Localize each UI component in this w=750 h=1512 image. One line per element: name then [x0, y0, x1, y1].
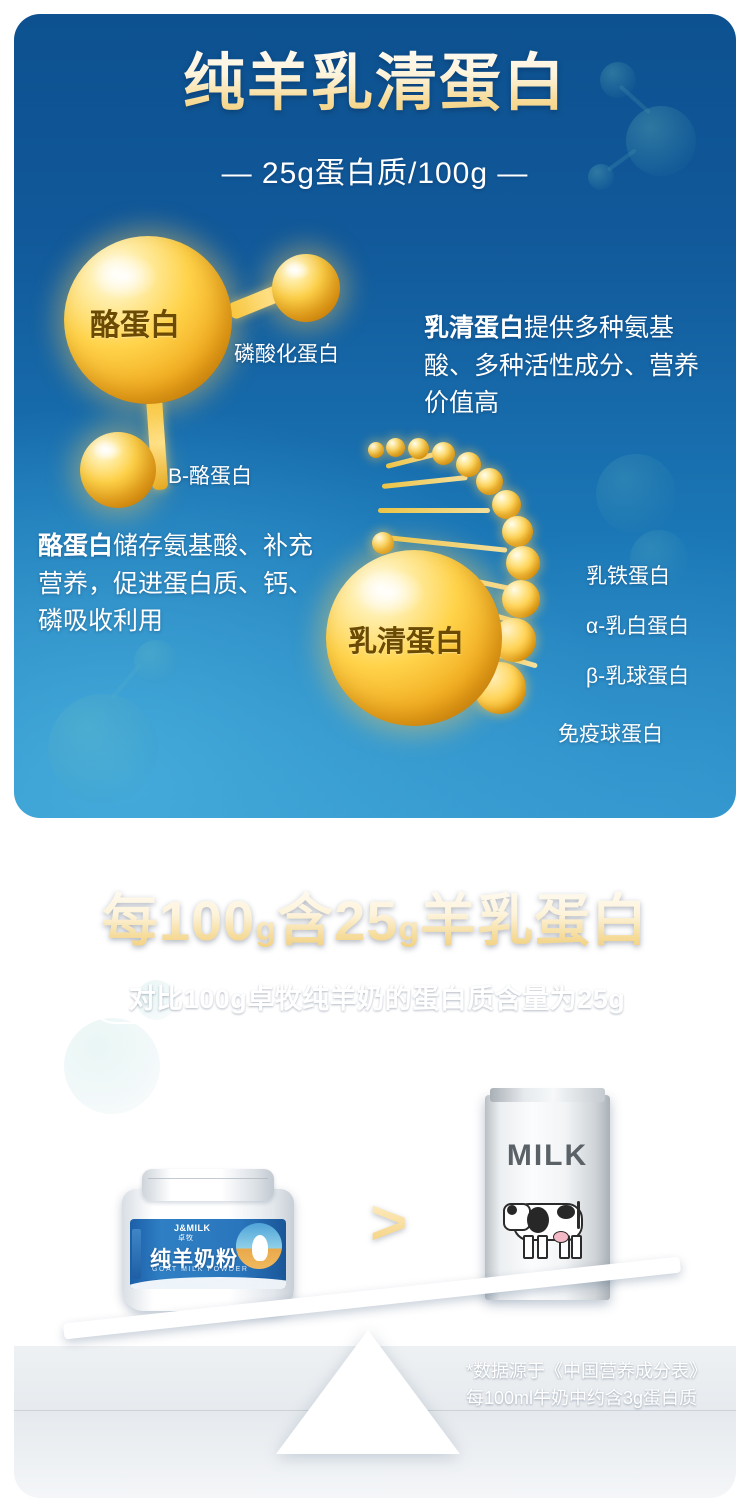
background-molecule-decoration-left — [38, 634, 208, 804]
helix-bead — [506, 546, 540, 580]
paragraph-casein-bold: 酪蛋白 — [38, 532, 113, 560]
helix-bead — [432, 442, 455, 465]
can-label: J&MILK 卓牧 纯羊奶粉 GOAT MILK POWDER 生羊乳 小分子·… — [130, 1219, 286, 1289]
can-lid — [142, 1169, 274, 1201]
page-title: 纯羊乳清蛋白 — [0, 50, 750, 118]
helix-bead — [372, 532, 394, 554]
label-immunoglobulin: 免疫球蛋白 — [558, 718, 663, 748]
cow-spot — [527, 1207, 549, 1233]
title-number-25: 25 — [334, 889, 398, 952]
helix-rung — [376, 534, 508, 553]
product-marketing-page: 纯羊乳清蛋白 — 25g蛋白质/100g — 酪蛋白 磷酸化蛋白 B-酪蛋白 乳… — [0, 0, 750, 1512]
greater-than-icon: > — [370, 1190, 407, 1254]
label-lactoferrin: 乳铁蛋白 — [586, 560, 670, 590]
label-phosphorylated-protein: 磷酸化蛋白 — [234, 338, 339, 368]
whey-sphere-label: 乳清蛋白 — [348, 618, 464, 660]
can-net-weight: 净含量:400克 — [246, 1277, 282, 1286]
goat-illustration-icon — [236, 1223, 282, 1269]
page-subtitle: — 25g蛋白质/100g — — [0, 148, 750, 192]
title-suffix: 羊乳蛋白 — [420, 889, 648, 952]
can-brand-cn: 卓牧 — [178, 1233, 194, 1243]
title-prefix: 每 — [102, 889, 159, 952]
phospho-sphere — [272, 254, 340, 322]
title-middle: 含 — [277, 889, 334, 952]
helix-bead — [502, 516, 533, 547]
title-unit-g1: g — [255, 910, 277, 948]
beta-casein-sphere — [80, 432, 156, 508]
helix-bead — [368, 442, 384, 458]
casein-sphere-label: 酪蛋白 — [90, 300, 180, 344]
title-number-100: 100 — [159, 889, 255, 952]
helix-bead — [408, 438, 429, 459]
comparison-subtitle-pill: 对比100g卓牧纯羊奶的蛋白质含量为25g — [88, 968, 666, 1024]
can-label-side-strip — [132, 1229, 141, 1279]
cow-leg — [537, 1235, 548, 1259]
footnote-line-1: *数据源于《中国营养成分表》 — [466, 1358, 707, 1385]
cow-illustration — [503, 1187, 595, 1257]
footnote-line-2: 每100ml牛奶中约含3g蛋白质 — [466, 1385, 707, 1412]
carton-label-text: MILK — [485, 1139, 610, 1173]
cow-spot — [557, 1205, 575, 1219]
balance-fulcrum — [276, 1330, 460, 1454]
can-brand: J&MILK — [174, 1223, 211, 1233]
label-beta-casein: B-酪蛋白 — [168, 460, 252, 490]
cow-udder — [553, 1231, 569, 1243]
can-product-name-en: GOAT MILK POWDER — [152, 1266, 249, 1273]
can-bullets: 生羊乳 小分子·易吸收 900m纯质生态乳 — [144, 1279, 235, 1286]
cow-leg — [523, 1235, 534, 1259]
whey-main-sphere: 乳清蛋白 — [326, 550, 502, 726]
goat-milk-powder-can: J&MILK 卓牧 纯羊奶粉 GOAT MILK POWDER 生羊乳 小分子·… — [112, 1163, 304, 1315]
helix-rung — [382, 475, 468, 489]
paragraph-casein: 酪蛋白储存氨基酸、补充营养，促进蛋白质、钙、磷吸收利用 — [38, 528, 320, 641]
label-alpha-lactalbumin: α-乳白蛋白 — [586, 610, 689, 640]
helix-bead — [492, 490, 521, 519]
cow-leg — [571, 1235, 582, 1259]
paragraph-whey-protein: 乳清蛋白提供多种氨基酸、多种活性成分、营养价值高 — [424, 310, 714, 423]
cow-tail — [577, 1201, 580, 1229]
cow-spot — [507, 1205, 517, 1215]
footnote: *数据源于《中国营养成分表》 每100ml牛奶中约含3g蛋白质 — [466, 1358, 707, 1412]
casein-main-sphere: 酪蛋白 — [64, 236, 232, 404]
comparison-title: 每100g含25g羊乳蛋白 — [0, 890, 750, 952]
paragraph-whey-bold: 乳清蛋白 — [424, 314, 524, 342]
label-beta-lactoglobulin: β-乳球蛋白 — [586, 660, 689, 690]
whey-protein-molecule-illustration: 乳清蛋白 — [316, 430, 646, 750]
helix-rung — [378, 508, 490, 513]
carton-top — [490, 1088, 605, 1102]
pill-text: 对比100g卓牧纯羊奶的蛋白质含量为25g — [129, 977, 626, 1016]
helix-bead — [386, 438, 405, 457]
title-unit-g2: g — [398, 910, 420, 948]
helix-bead — [502, 580, 540, 618]
